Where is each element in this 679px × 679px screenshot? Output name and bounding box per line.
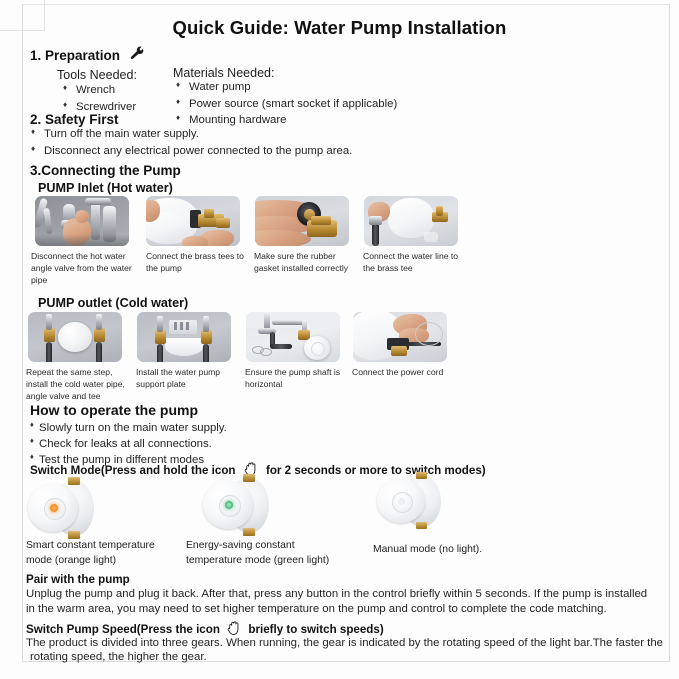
page-title: Quick Guide: Water Pump Installation: [0, 17, 679, 39]
quick-guide-page: Quick Guide: Water Pump Installation 1. …: [0, 0, 679, 679]
wrench-icon: [129, 46, 146, 66]
photo-cold-water-pipe: [28, 312, 122, 362]
photo-disconnect-hot-water-angle-valve: [35, 196, 129, 246]
tools-needed-list: Wrench Screwdriver: [62, 82, 192, 115]
photo-rubber-gasket: [255, 196, 349, 246]
switch-mode-text-after: for 2 seconds or more to switch modes): [266, 464, 486, 477]
section-safety-heading: 2. Safety First: [30, 112, 119, 127]
caption: Connect the water line to the brass tee: [363, 250, 467, 274]
pair-body: Unplug the pump and plug it back. After …: [26, 587, 658, 618]
caption: Connect the power cord: [352, 366, 456, 378]
section-preparation-heading: 1. Preparation: [30, 46, 146, 66]
caption: Ensure the pump shaft is horizontal: [245, 366, 349, 390]
photo-connect-power-cord: [353, 312, 447, 362]
materials-needed-heading: Materials Needed:: [173, 66, 274, 80]
switch-speed-text-after: briefly to switch speeds): [248, 623, 383, 636]
caption: Install the water pump support plate: [136, 366, 238, 390]
list-item: Power source (smart socket if applicable…: [175, 96, 515, 113]
photo-connect-brass-tees: [146, 196, 240, 246]
tools-needed-heading: Tools Needed:: [57, 68, 137, 82]
pump-inlet-label: PUMP Inlet (Hot water): [38, 181, 173, 195]
photo-support-plate: [137, 312, 231, 362]
caption: Disconnect the hot water angle valve fro…: [31, 250, 133, 287]
caption: Connect the brass tees to the pump: [146, 250, 248, 274]
speed-body-line-1: The product is divided into three gears.…: [26, 636, 666, 651]
list-item: Disconnect any electrical power connecte…: [30, 143, 460, 160]
preparation-heading-label: 1. Preparation: [30, 48, 120, 63]
switch-speed-text-before: Switch Pump Speed(Press the icon: [26, 623, 220, 636]
list-item: Wrench: [62, 82, 192, 99]
pump-outlet-label: PUMP outlet (Cold water): [38, 296, 188, 310]
photo-connect-water-line: [364, 196, 458, 246]
caption: Manual mode (no light).: [373, 542, 523, 557]
safety-list: Turn off the main water supply. Disconne…: [30, 126, 460, 159]
section-connecting-heading: 3.Connecting the Pump: [30, 163, 181, 178]
speed-body-line-2: rotating speed, the higher the gear.: [30, 650, 670, 665]
caption: Smart constant temperature mode (orange …: [26, 538, 166, 568]
list-item: Check for leaks at all connections.: [30, 436, 350, 452]
caption: Energy-saving constant temperature mode …: [186, 538, 336, 568]
list-item: Turn off the main water supply.: [30, 126, 460, 143]
pair-heading: Pair with the pump: [26, 573, 130, 586]
list-item: Slowly turn on the main water supply.: [30, 420, 350, 436]
list-item: Water pump: [175, 79, 515, 96]
pump-smart-mode: [28, 478, 96, 538]
caption: Make sure the rubber gasket installed co…: [254, 250, 358, 274]
materials-needed-list: Water pump Power source (smart socket if…: [175, 79, 515, 129]
pump-energy-saving-mode: [203, 475, 271, 535]
photo-pump-shaft-horizontal: [246, 312, 340, 362]
caption: Repeat the same step, install the cold w…: [26, 366, 128, 403]
operate-heading: How to operate the pump: [30, 402, 198, 418]
pump-manual-mode: [377, 473, 445, 531]
